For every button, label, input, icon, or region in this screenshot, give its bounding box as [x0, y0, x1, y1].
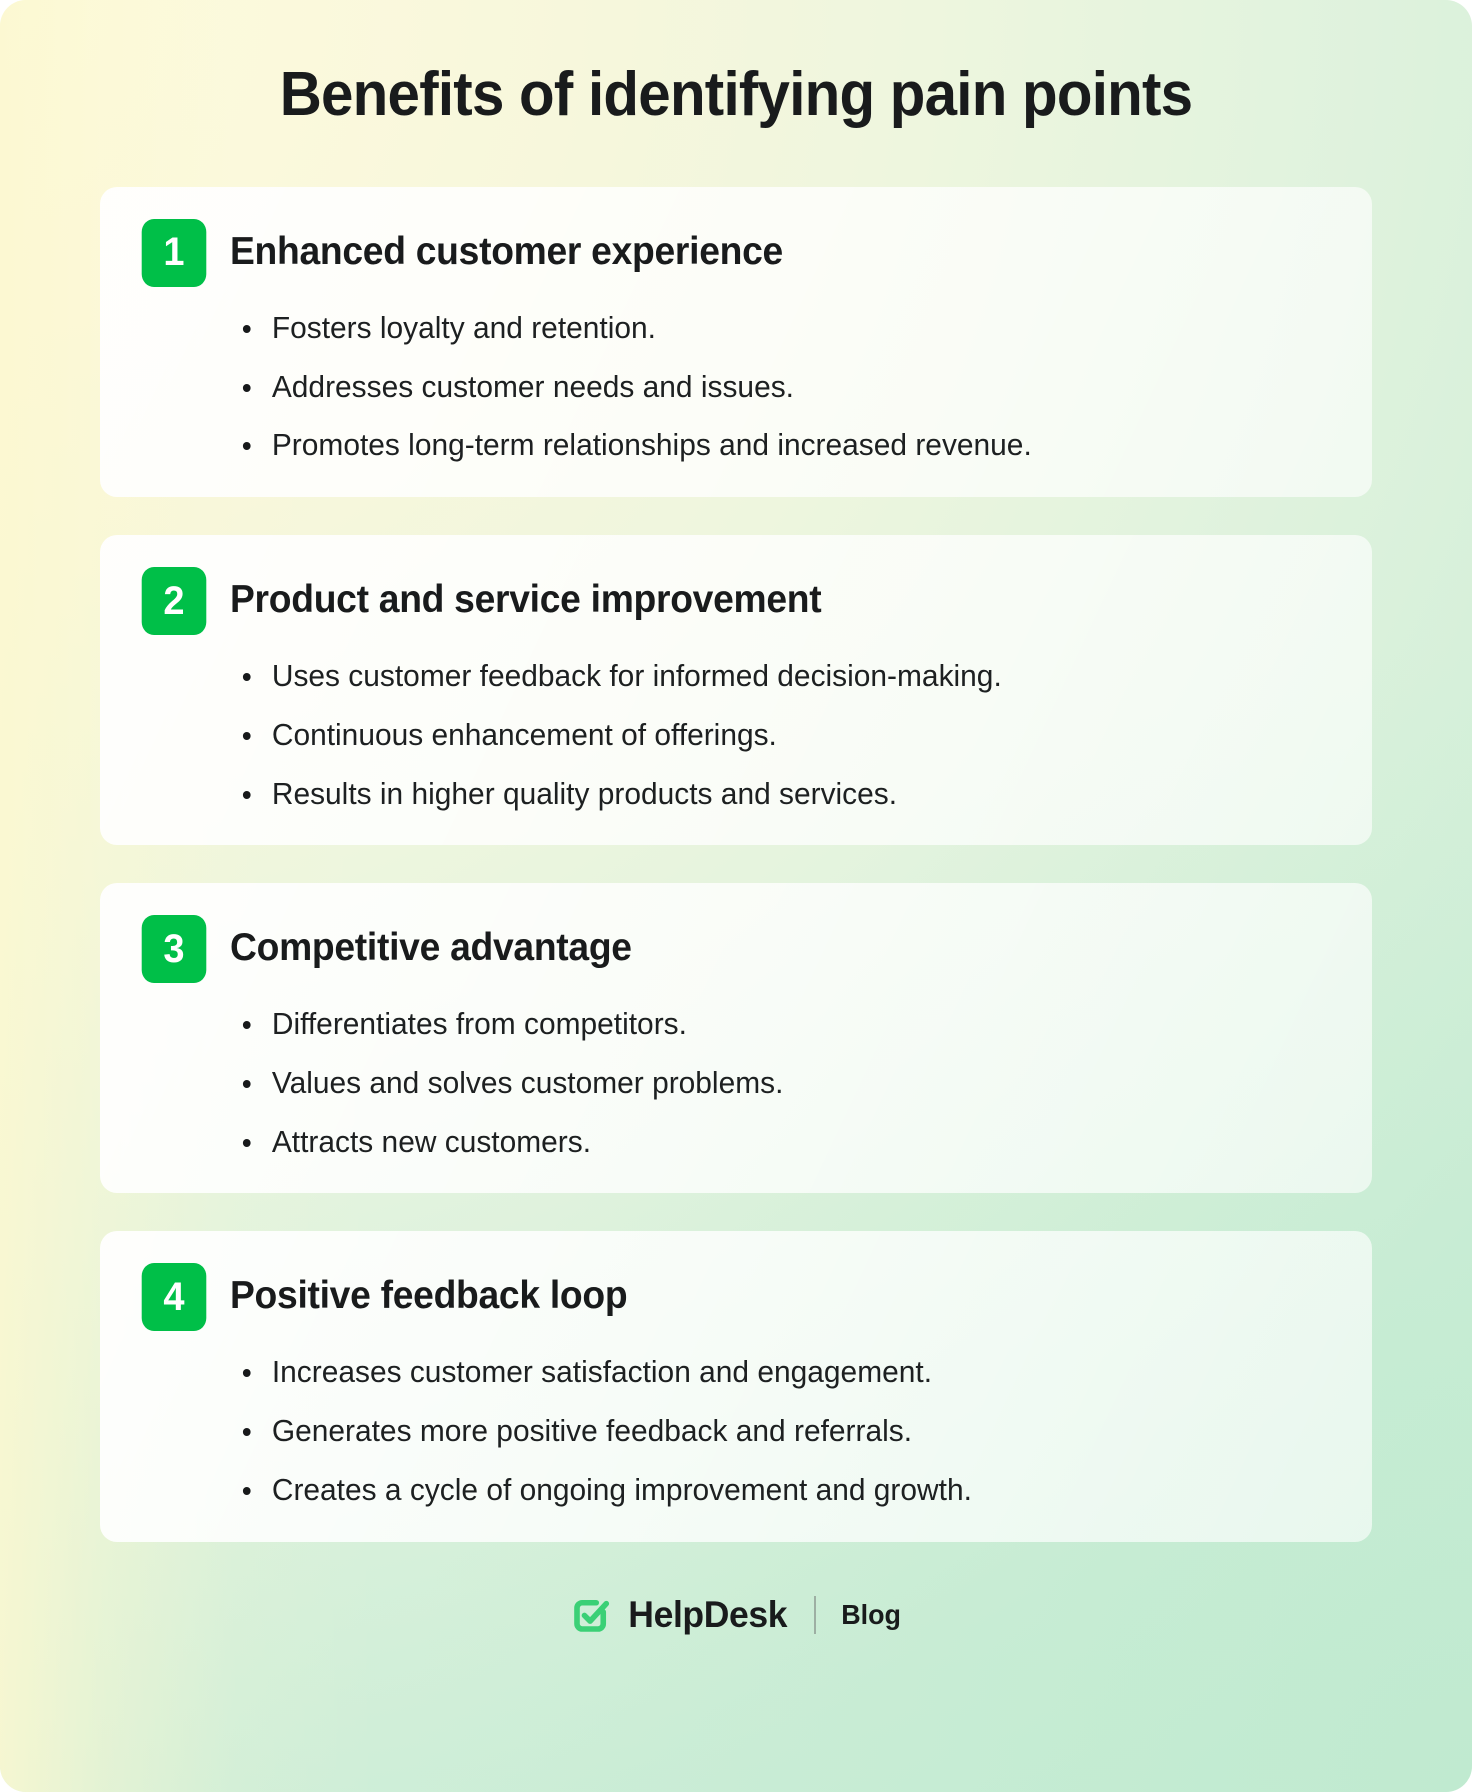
- benefit-card-title: Product and service improvement: [230, 567, 821, 622]
- benefit-card-header: 1 Enhanced customer experience: [140, 219, 1332, 287]
- benefit-card: 2 Product and service improvement Uses c…: [100, 535, 1372, 845]
- benefit-number-badge: 3: [142, 915, 207, 983]
- list-item: Fosters loyalty and retention.: [240, 311, 1294, 346]
- benefit-number-badge: 1: [142, 219, 207, 287]
- infographic-canvas: Benefits of identifying pain points 1 En…: [0, 0, 1472, 1792]
- benefit-card-header: 3 Competitive advantage: [140, 915, 1332, 983]
- list-item: Results in higher quality products and s…: [240, 777, 1294, 812]
- list-item: Addresses customer needs and issues.: [240, 370, 1294, 405]
- list-item: Differentiates from competitors.: [240, 1007, 1294, 1042]
- list-item: Promotes long-term relationships and inc…: [240, 428, 1294, 463]
- benefit-card-header: 4 Positive feedback loop: [140, 1263, 1332, 1331]
- list-item: Uses customer feedback for informed deci…: [240, 659, 1294, 694]
- benefit-card-title: Enhanced customer experience: [230, 219, 783, 274]
- list-item: Attracts new customers.: [240, 1125, 1294, 1160]
- footer-divider: [814, 1596, 816, 1634]
- list-item: Increases customer satisfaction and enga…: [240, 1355, 1294, 1390]
- benefit-number-badge: 4: [142, 1263, 207, 1331]
- list-item: Values and solves customer problems.: [240, 1066, 1294, 1101]
- benefit-card: 3 Competitive advantage Differentiates f…: [100, 883, 1372, 1193]
- benefit-card-list: 1 Enhanced customer experience Fosters l…: [100, 187, 1372, 1542]
- benefit-card-title: Competitive advantage: [230, 915, 632, 970]
- list-item: Creates a cycle of ongoing improvement a…: [240, 1473, 1294, 1508]
- list-item: Generates more positive feedback and ref…: [240, 1414, 1294, 1449]
- benefit-card-title: Positive feedback loop: [230, 1263, 627, 1318]
- benefit-bullet-list: Fosters loyalty and retention. Addresses…: [140, 311, 1332, 463]
- benefit-bullet-list: Differentiates from competitors. Values …: [140, 1007, 1332, 1159]
- benefit-bullet-list: Increases customer satisfaction and enga…: [140, 1355, 1332, 1507]
- benefit-number-badge: 2: [142, 567, 207, 635]
- footer-blog-label: Blog: [841, 1599, 901, 1631]
- footer: HelpDesk Blog: [0, 1594, 1472, 1636]
- brand-lockup: HelpDesk: [570, 1594, 790, 1636]
- benefit-card-header: 2 Product and service improvement: [140, 567, 1332, 635]
- list-item: Continuous enhancement of offerings.: [240, 718, 1294, 753]
- benefit-bullet-list: Uses customer feedback for informed deci…: [140, 659, 1332, 811]
- benefit-card: 4 Positive feedback loop Increases custo…: [100, 1231, 1372, 1541]
- helpdesk-check-logo-icon: [570, 1594, 612, 1636]
- brand-name: HelpDesk: [628, 1594, 787, 1636]
- page-title: Benefits of identifying pain points: [44, 0, 1428, 129]
- benefit-card: 1 Enhanced customer experience Fosters l…: [100, 187, 1372, 497]
